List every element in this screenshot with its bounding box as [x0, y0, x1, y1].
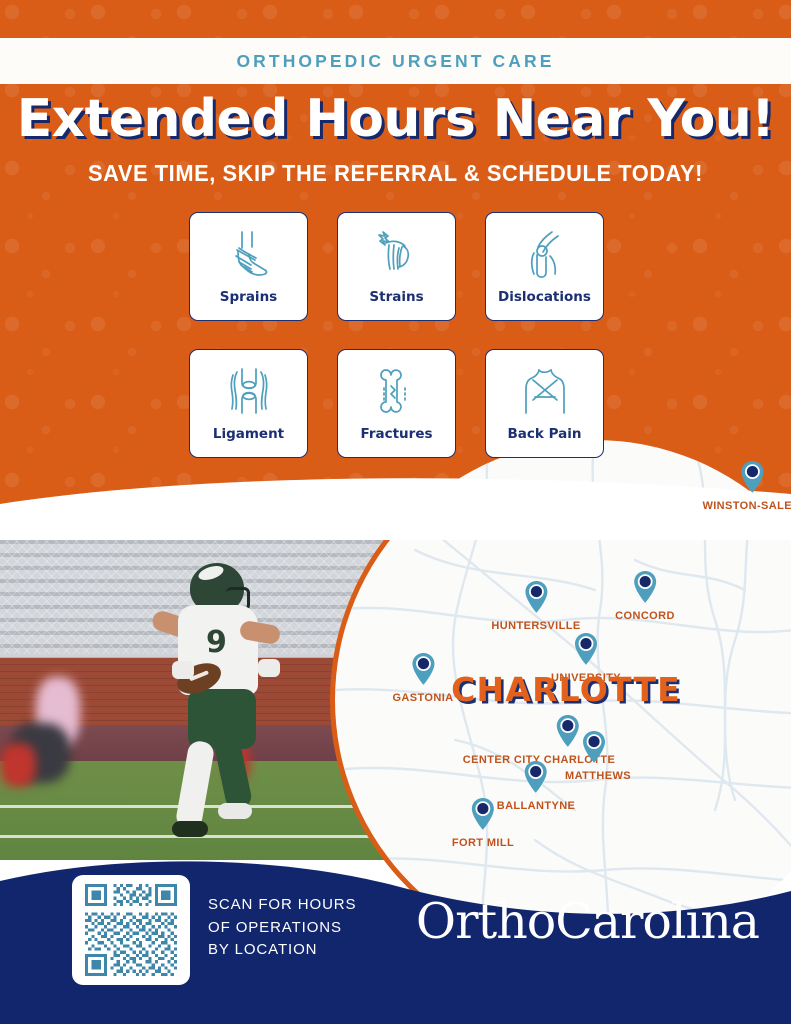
- condition-label: Back Pain: [508, 426, 582, 442]
- map-pin-concord[interactable]: CONCORD: [615, 570, 675, 622]
- scan-instruction-text: SCAN FOR HOURS OF OPERATIONS BY LOCATION: [208, 894, 356, 962]
- qr-code-panel[interactable]: [72, 875, 190, 985]
- location-pin-icon: [523, 580, 549, 619]
- map-pin-label: WINSTON-SALEM: [702, 500, 791, 512]
- condition-card-grid: Sprains Strains: [189, 212, 603, 458]
- condition-label: Fractures: [360, 426, 432, 442]
- location-pin-icon: [470, 797, 496, 836]
- bandaged-foot-icon: [226, 226, 272, 282]
- condition-card-fractures[interactable]: Fractures: [337, 349, 456, 458]
- hero-text-block: Extended Hours Near You! SAVE TIME, SKIP…: [0, 92, 791, 187]
- orthocarolina-logo: OrthoCarolina: [416, 893, 759, 950]
- location-pin-icon: [581, 730, 607, 769]
- condition-card-dislocations[interactable]: Dislocations: [485, 212, 604, 321]
- location-pin-icon: [523, 760, 549, 799]
- map-pin-label: CONCORD: [615, 610, 675, 622]
- eyebrow-text: ORTHOPEDIC URGENT CARE: [236, 51, 554, 72]
- location-pin-icon: [739, 460, 765, 499]
- qr-code[interactable]: [83, 884, 179, 976]
- map-city-title: CHARLOTTE: [451, 670, 681, 709]
- shoulder-strain-icon: [372, 226, 422, 282]
- map-pin-winston-salem[interactable]: WINSTON-SALEM: [702, 460, 791, 512]
- condition-card-sprains[interactable]: Sprains: [189, 212, 308, 321]
- condition-card-ligament[interactable]: Ligament: [189, 349, 308, 458]
- condition-card-strains[interactable]: Strains: [337, 212, 456, 321]
- map-pin-label: HUNTERSVILLE: [491, 620, 580, 632]
- fractured-bone-icon: [377, 363, 417, 419]
- player-figure: 9: [148, 563, 298, 843]
- jersey-number: 9: [206, 625, 227, 660]
- poster-root: ORTHOPEDIC URGENT CARE Extended Hours Ne…: [0, 0, 791, 1024]
- location-pin-icon: [573, 632, 599, 671]
- map-pin-huntersville[interactable]: HUNTERSVILLE: [491, 580, 580, 632]
- footer: SCAN FOR HOURS OF OPERATIONS BY LOCATION…: [0, 845, 791, 1024]
- map-pin-label: FORT MILL: [452, 837, 514, 849]
- condition-label: Ligament: [213, 426, 284, 442]
- condition-card-back-pain[interactable]: Back Pain: [485, 349, 604, 458]
- hero-subhead: SAVE TIME, SKIP THE REFERRAL & SCHEDULE …: [20, 160, 771, 187]
- location-pin-icon: [410, 652, 436, 691]
- location-pin-icon: [632, 570, 658, 609]
- map-pin-gastonia[interactable]: GASTONIA: [392, 652, 453, 704]
- dislocated-knee-icon: [522, 226, 568, 282]
- scan-line-2: OF OPERATIONS: [208, 917, 356, 940]
- page-title: Extended Hours Near You!: [0, 92, 791, 147]
- scan-line-1: SCAN FOR HOURS: [208, 894, 356, 917]
- knee-ligament-icon: [226, 363, 272, 419]
- map-pin-label: GASTONIA: [392, 692, 453, 704]
- condition-label: Strains: [369, 289, 423, 305]
- condition-label: Sprains: [220, 289, 277, 305]
- condition-label: Dislocations: [498, 289, 591, 305]
- header-band: ORTHOPEDIC URGENT CARE: [0, 38, 791, 84]
- map-pin-fort-mill[interactable]: FORT MILL: [452, 797, 514, 849]
- scan-line-3: BY LOCATION: [208, 939, 356, 962]
- back-brace-icon: [521, 363, 569, 419]
